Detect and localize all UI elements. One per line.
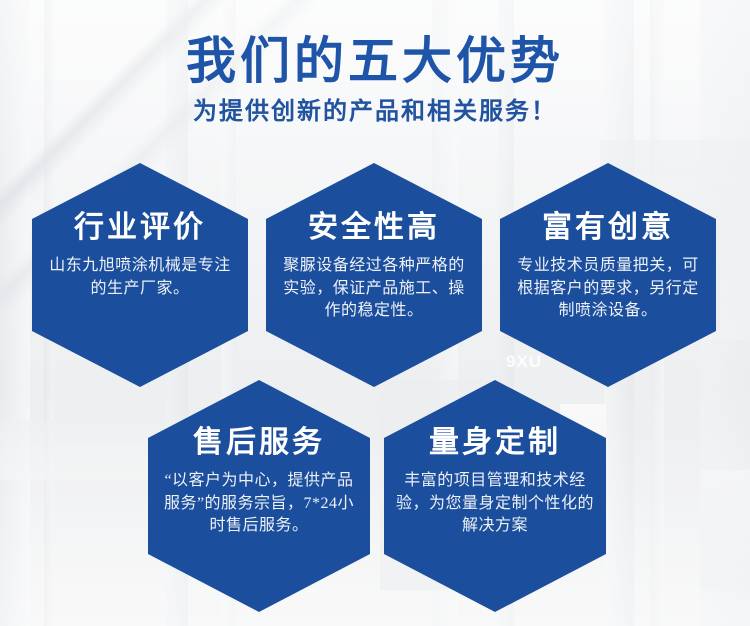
advantage-body-1: 山东九旭喷涂机械是专注的生产厂家。 — [45, 255, 235, 300]
advantage-title-1: 行业评价 — [74, 213, 206, 243]
advantage-body-3: 专业技术员质量把关，可根据客户的要求，另行定制喷涂设备。 — [513, 255, 703, 323]
advantage-title-4: 售后服务 — [193, 428, 325, 458]
background-watermark: 9XU — [506, 352, 542, 372]
page-title: 我们的五大优势 — [0, 34, 750, 88]
advantage-title-3: 富有创意 — [542, 213, 674, 243]
advantage-body-2: 聚脲设备经过各种严格的实验，保证产品施工、操作的稳定性。 — [279, 255, 469, 323]
advantage-body-5: 丰富的项目管理和技术经验，为您量身定制个性化的解决方案 — [396, 470, 594, 538]
advantages-banner: 9XU 我们的五大优势 为提供创新的产品和相关服务！ 行业评价 山东九旭喷涂机械… — [0, 0, 750, 626]
advantage-title-5: 量身定制 — [429, 428, 561, 458]
advantage-title-2: 安全性高 — [308, 213, 440, 243]
page-subtitle: 为提供创新的产品和相关服务！ — [0, 98, 750, 127]
advantage-body-4: “以客户为中心，提供产品服务”的服务宗旨，7*24小时售后服务。 — [160, 470, 358, 538]
heading-block: 我们的五大优势 为提供创新的产品和相关服务！ — [0, 34, 750, 127]
